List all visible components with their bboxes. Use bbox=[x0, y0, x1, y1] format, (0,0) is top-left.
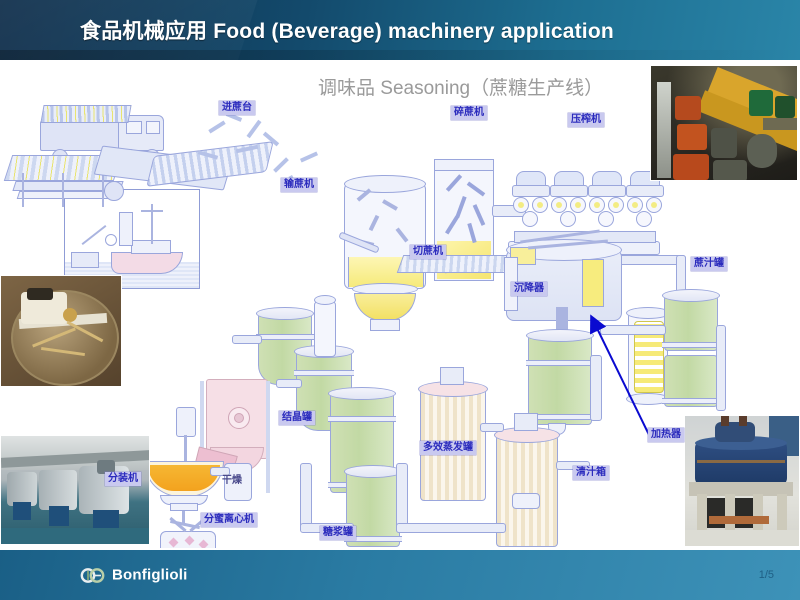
label-syrup-tank: 糖浆罐 bbox=[320, 526, 356, 540]
label-press-mill: 压榨机 bbox=[568, 113, 604, 127]
centrifuge-top-photo bbox=[0, 275, 122, 387]
ship-dock-drawing bbox=[64, 189, 200, 289]
slide-header: 食品机械应用 Food (Beverage) machinery applica… bbox=[0, 0, 800, 60]
diagram-title: 调味品 Seasoning（蔗糖生产线） bbox=[318, 73, 603, 100]
brand-logo: Bonfiglioli bbox=[80, 567, 188, 584]
label-cane-cutter: 切蔗机 bbox=[410, 245, 446, 259]
slide-body: 调味品 Seasoning（蔗糖生产线） bbox=[0, 63, 800, 550]
slide: 食品机械应用 Food (Beverage) machinery applica… bbox=[0, 0, 800, 600]
mill-unit bbox=[550, 171, 588, 233]
header-shadow bbox=[0, 50, 800, 60]
label-packing-machine: 分装机 bbox=[105, 472, 141, 486]
mill-hall-photo bbox=[650, 65, 798, 181]
label-cane-feed-table: 进蔗台 bbox=[219, 101, 255, 115]
label-centrifuge: 分蜜离心机 bbox=[201, 513, 257, 527]
bonfiglioli-gear-icon bbox=[80, 567, 106, 583]
label-crystallizer: 结晶罐 bbox=[279, 411, 315, 425]
label-clear-juice: 清汁箱 bbox=[573, 466, 609, 480]
label-cane-shredder: 碎蔗机 bbox=[451, 106, 487, 120]
slide-footer: Bonfiglioli 1/5 bbox=[0, 550, 800, 600]
brand-name: Bonfiglioli bbox=[112, 567, 188, 584]
page-number: 1/5 bbox=[759, 569, 774, 581]
label-evaporator: 多效蒸发罐 bbox=[420, 441, 476, 455]
mill-unit bbox=[588, 171, 626, 233]
clarifier-tank-photo bbox=[684, 415, 800, 547]
label-dryer: 干燥 bbox=[219, 474, 245, 488]
label-settler: 沉降器 bbox=[511, 282, 547, 296]
page-title: 食品机械应用 Food (Beverage) machinery applica… bbox=[80, 15, 614, 45]
label-cane-conveyor: 输蔗机 bbox=[281, 178, 317, 192]
label-heater: 加热器 bbox=[648, 428, 684, 442]
mill-unit bbox=[512, 171, 550, 233]
label-juice-tank: 蔗汁罐 bbox=[691, 257, 727, 271]
centrifuge-row-photo bbox=[0, 435, 150, 545]
